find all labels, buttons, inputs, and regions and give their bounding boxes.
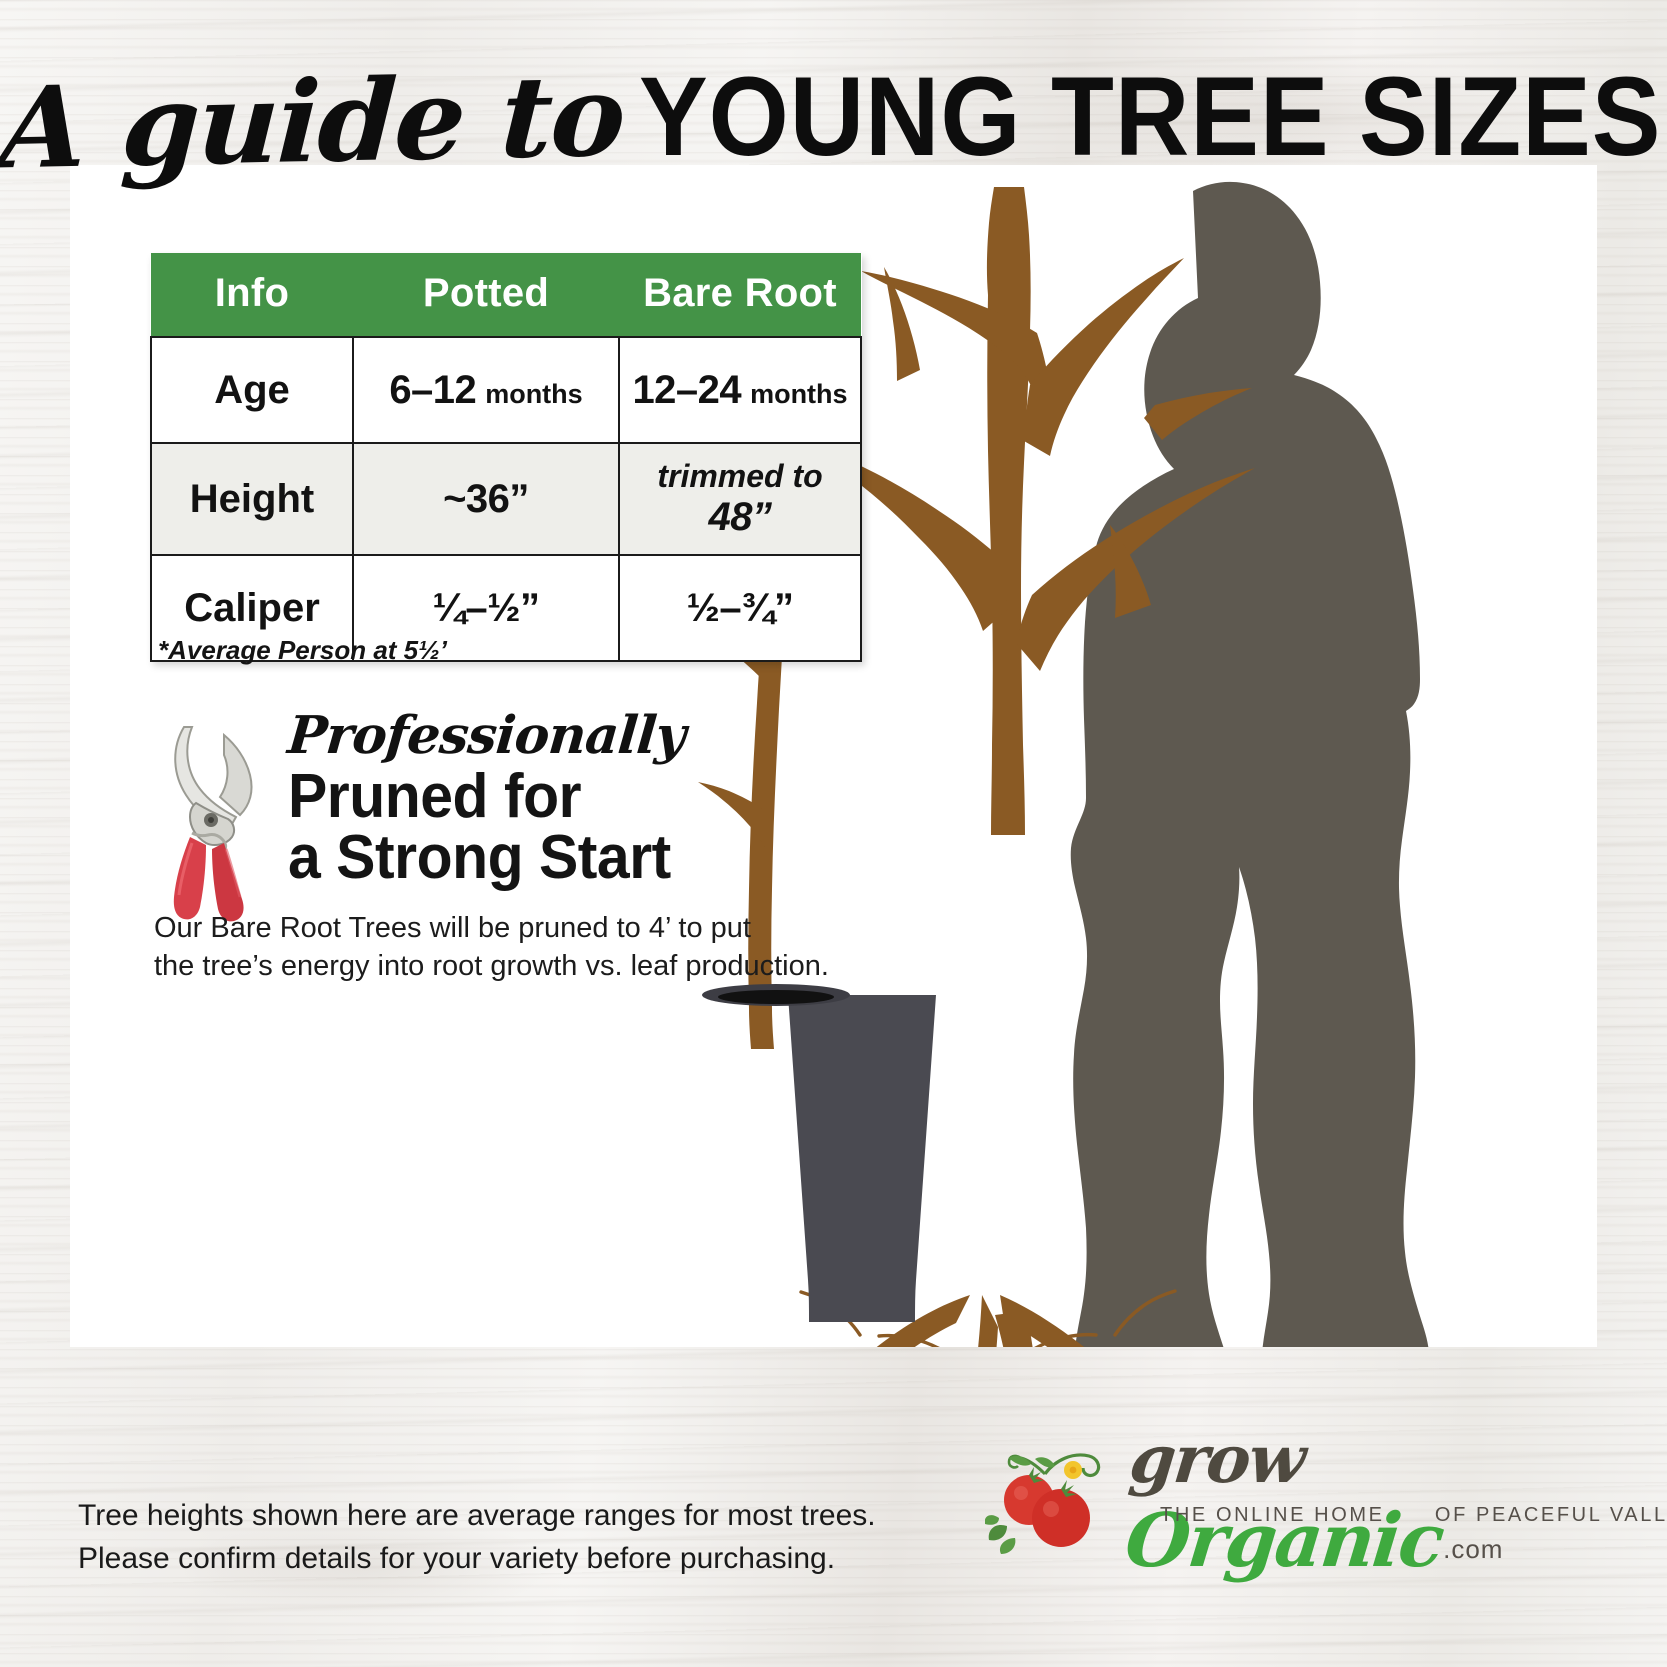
table-row-age: Age 6–12 months 12–24 months <box>151 337 861 443</box>
footer-line-1: Tree heights shown here are average rang… <box>78 1495 876 1538</box>
pruning-shears-icon <box>162 719 282 929</box>
page-title-bold: YOUNG TREE SIZES <box>639 52 1661 181</box>
table-header-bare-root: Bare Root <box>619 253 861 337</box>
cell-height-potted: ~36” <box>353 443 619 555</box>
footer-disclaimer: Tree heights shown here are average rang… <box>78 1495 876 1580</box>
pruned-script-line: Professionally <box>285 705 687 766</box>
tomato-vine-icon <box>985 1426 1135 1556</box>
row-label-age: Age <box>151 337 353 443</box>
pruned-body-line-1: Our Bare Root Trees will be pruned to 4’… <box>154 910 829 948</box>
page-title-script: A guide to <box>0 50 627 194</box>
logo-tagline-right: OF PEACEFUL VALLEY <box>1435 1504 1667 1526</box>
logo-com-text: .com <box>1443 1534 1503 1565</box>
logo-wordmark: growOrganic.com <box>1130 1420 1585 1584</box>
page-title: A guide toYOUNG TREE SIZES <box>0 52 1667 188</box>
info-card: Info Potted Bare Root Age 6–12 months 12… <box>70 165 1597 1347</box>
cell-caliper-bare-root: ½–¾” <box>619 555 861 661</box>
table-header-info: Info <box>151 253 353 337</box>
table-row-height: Height ~36” trimmed to 48” <box>151 443 861 555</box>
pruned-heading-group: Professionally Pruned for a Strong Start <box>288 705 691 889</box>
cell-age-potted: 6–12 months <box>353 337 619 443</box>
pruned-body-text: Our Bare Root Trees will be pruned to 4’… <box>154 910 829 985</box>
logo-tagline-left: THE ONLINE HOME <box>1160 1504 1385 1526</box>
nursery-pot <box>788 995 936 1322</box>
person-silhouette <box>1071 182 1430 1347</box>
logo-tagline: THE ONLINE HOME OF PEACEFUL VALLEY <box>1160 1504 1667 1527</box>
pot-soil <box>718 990 834 1004</box>
footer-line-2: Please confirm details for your variety … <box>78 1538 876 1581</box>
pot-rim <box>702 984 850 1006</box>
pruned-body-line-2: the tree’s energy into root growth vs. l… <box>154 948 829 986</box>
table-footnote: *Average Person at 5½’ <box>158 635 447 666</box>
logo-grow-text: grow <box>1126 1420 1308 1498</box>
table-header-potted: Potted <box>353 253 619 337</box>
pruned-bold-line-2: a Strong Start <box>288 827 671 888</box>
root-system <box>678 1291 1285 1347</box>
cell-height-bare-root: trimmed to 48” <box>619 443 861 555</box>
grow-organic-logo[interactable]: growOrganic.com THE ONLINE HOME OF PEACE… <box>985 1412 1585 1562</box>
row-label-height: Height <box>151 443 353 555</box>
cell-age-bare-root: 12–24 months <box>619 337 861 443</box>
table-header-row: Info Potted Bare Root <box>151 253 861 337</box>
pruned-bold-line-1: Pruned for <box>288 766 671 827</box>
tree-size-table: Info Potted Bare Root Age 6–12 months 12… <box>150 253 862 662</box>
